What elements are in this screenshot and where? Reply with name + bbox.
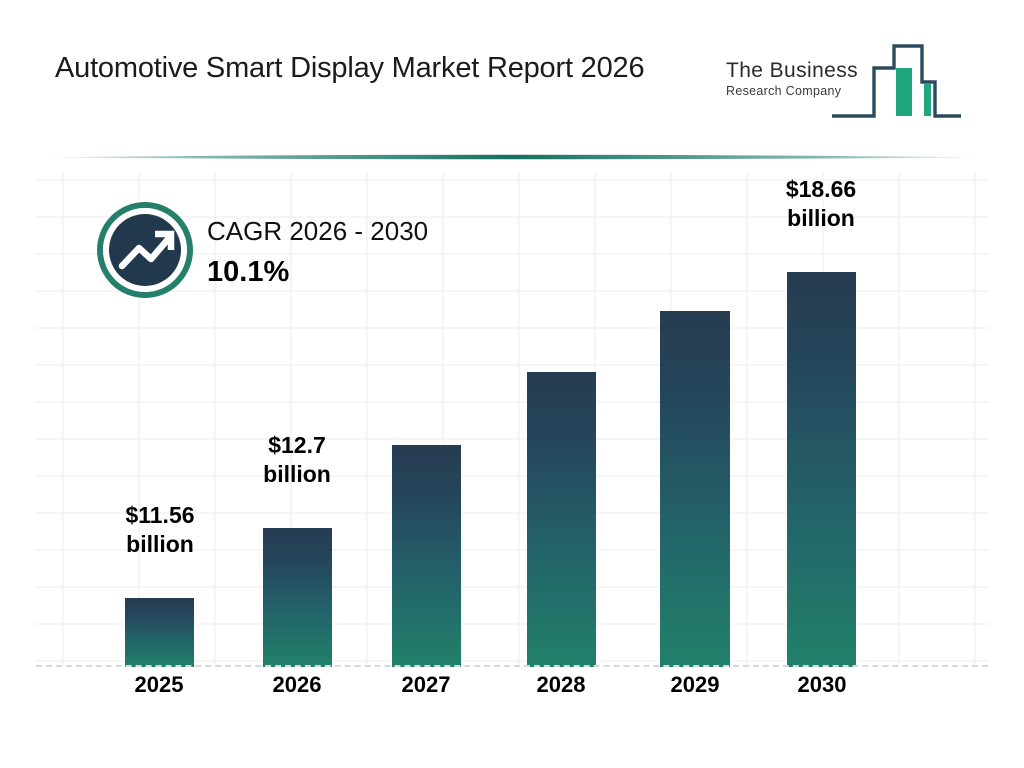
bar-2028[interactable] xyxy=(527,372,596,667)
x-axis: 2025 2026 2027 2028 2029 2030 xyxy=(36,672,988,712)
x-tick-2028: 2028 xyxy=(506,672,616,698)
report-header: Automotive Smart Display Market Report 2… xyxy=(0,0,1024,152)
x-tick-2025: 2025 xyxy=(104,672,214,698)
header-divider xyxy=(36,150,988,164)
company-logo: The Business Research Company xyxy=(726,34,971,134)
cagr-value-label: 10.1% xyxy=(207,254,428,292)
cagr-period-label: CAGR 2026 - 2030 xyxy=(207,215,428,248)
x-tick-2027: 2027 xyxy=(371,672,481,698)
bar-2025[interactable] xyxy=(125,598,194,667)
x-tick-2030: 2030 xyxy=(767,672,877,698)
bar-2029[interactable] xyxy=(660,311,730,667)
bar-2030[interactable] xyxy=(787,272,856,667)
trending-up-icon xyxy=(97,202,193,298)
x-tick-2029: 2029 xyxy=(640,672,750,698)
chart-plot-area: $11.56 billion $12.7 billion $18.66 bill… xyxy=(36,172,988,667)
bar-value-label-2030: $18.66 billion xyxy=(756,175,886,234)
chart-baseline xyxy=(36,665,988,667)
x-tick-2026: 2026 xyxy=(242,672,352,698)
bar-value-label-2025: $11.56 billion xyxy=(95,501,225,560)
bar-2026[interactable] xyxy=(263,528,332,667)
page-title: Automotive Smart Display Market Report 2… xyxy=(55,48,705,89)
bar-chart-logo-mark xyxy=(830,38,963,124)
bar-2027[interactable] xyxy=(392,445,461,667)
bar-value-label-2026: $12.7 billion xyxy=(232,431,362,490)
cagr-text-block: CAGR 2026 - 2030 10.1% xyxy=(207,215,428,291)
